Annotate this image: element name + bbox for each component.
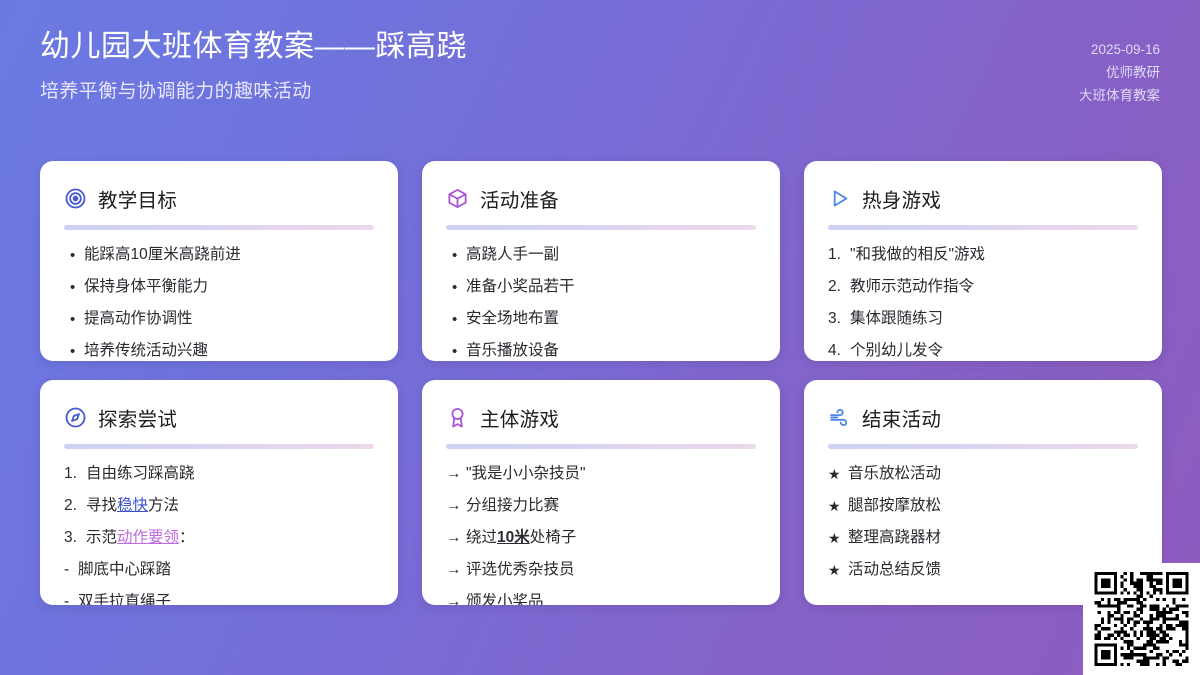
page-subtitle: 培养平衡与协调能力的趣味活动: [40, 76, 1160, 103]
card-warmup-game: 热身游戏1."和我做的相反"游戏2.教师示范动作指令3.集体跟随练习4.个别幼儿…: [804, 161, 1162, 361]
card-list: →"我是小小杂技员"→分组接力比赛→绕过10米处椅子→评选优秀杂技员→颁发小奖品: [446, 464, 756, 605]
wind-icon: [828, 406, 851, 429]
list-item-text: 示范动作要领：: [86, 528, 374, 549]
list-marker: →: [446, 464, 466, 485]
list-item: 3.示范动作要领：: [64, 528, 374, 549]
list-marker: -: [64, 560, 78, 581]
list-marker: →: [446, 528, 466, 549]
card-teaching-goals: 教学目标•能踩高10厘米高跷前进•保持身体平衡能力•提高动作协调性•培养传统活动…: [40, 161, 398, 361]
card-list: •高跷人手一副•准备小奖品若干•安全场地布置•音乐播放设备: [446, 245, 756, 361]
list-item-text: 保持身体平衡能力: [84, 277, 374, 298]
card-header: 探索尝试: [64, 402, 374, 432]
list-item: 1."和我做的相反"游戏: [828, 245, 1138, 266]
list-item-text: "我是小小杂技员": [466, 464, 756, 485]
card-main-game: 主体游戏→"我是小小杂技员"→分组接力比赛→绕过10米处椅子→评选优秀杂技员→颁…: [422, 380, 780, 605]
card-list: 1."和我做的相反"游戏2.教师示范动作指令3.集体跟随练习4.个别幼儿发令: [828, 245, 1138, 361]
list-item: 4.个别幼儿发令: [828, 341, 1138, 361]
list-marker: •: [64, 277, 84, 298]
list-marker: →: [446, 592, 466, 605]
list-marker: →: [446, 496, 466, 517]
list-marker: •: [446, 277, 466, 298]
card-header: 热身游戏: [828, 183, 1138, 213]
list-item-text: 脚底中心踩踏: [78, 560, 374, 581]
target-icon: [64, 187, 87, 210]
list-marker: ★: [828, 528, 848, 549]
list-item-text: 寻找稳快方法: [86, 496, 374, 517]
card-activity-preparation: 活动准备•高跷人手一副•准备小奖品若干•安全场地布置•音乐播放设备: [422, 161, 780, 361]
card-divider: [446, 225, 756, 230]
list-item-text: 音乐播放设备: [466, 341, 756, 361]
list-item-text: 安全场地布置: [466, 309, 756, 330]
list-item: →颁发小奖品: [446, 592, 756, 605]
list-item: 3.集体跟随练习: [828, 309, 1138, 330]
list-marker: →: [446, 560, 466, 581]
card-list: 1.自由练习踩高跷2.寻找稳快方法3.示范动作要领：-脚底中心踩踏-双手拉直绳子: [64, 464, 374, 605]
card-exploration-attempt: 探索尝试1.自由练习踩高跷2.寻找稳快方法3.示范动作要领：-脚底中心踩踏-双手…: [40, 380, 398, 605]
card-divider: [64, 225, 374, 230]
card-title: 热身游戏: [862, 184, 941, 213]
list-item-text: 音乐放松活动: [848, 464, 1138, 485]
qr-code-icon: [1092, 572, 1191, 666]
list-item: →"我是小小杂技员": [446, 464, 756, 485]
list-item-text: 绕过10米处椅子: [466, 528, 756, 549]
list-item-text: 个别幼儿发令: [850, 341, 1138, 361]
list-marker: •: [64, 341, 84, 361]
card-grid: 教学目标•能踩高10厘米高跷前进•保持身体平衡能力•提高动作协调性•培养传统活动…: [40, 161, 1160, 605]
list-item-text: 准备小奖品若干: [466, 277, 756, 298]
list-item: ★音乐放松活动: [828, 464, 1138, 485]
list-marker: -: [64, 592, 78, 605]
list-marker: 1.: [64, 464, 86, 485]
card-list: •能踩高10厘米高跷前进•保持身体平衡能力•提高动作协调性•培养传统活动兴趣: [64, 245, 374, 361]
list-marker: 4.: [828, 341, 850, 361]
list-item: •安全场地布置: [446, 309, 756, 330]
list-item-text: 培养传统活动兴趣: [84, 341, 374, 361]
list-item: •高跷人手一副: [446, 245, 756, 266]
list-item: -双手拉直绳子: [64, 592, 374, 605]
card-divider: [828, 225, 1138, 230]
list-marker: 2.: [828, 277, 850, 298]
list-item: •培养传统活动兴趣: [64, 341, 374, 361]
list-marker: •: [446, 245, 466, 266]
list-item: •能踩高10厘米高跷前进: [64, 245, 374, 266]
list-item-text: 评选优秀杂技员: [466, 560, 756, 581]
list-item: →评选优秀杂技员: [446, 560, 756, 581]
list-item-text: 能踩高10厘米高跷前进: [84, 245, 374, 266]
list-item: •提高动作协调性: [64, 309, 374, 330]
list-item: -脚底中心踩踏: [64, 560, 374, 581]
list-item: •音乐播放设备: [446, 341, 756, 361]
list-item-text: 集体跟随练习: [850, 309, 1138, 330]
list-item-text: 腿部按摩放松: [848, 496, 1138, 517]
play-triangle-icon: [828, 187, 851, 210]
inline-link[interactable]: 稳快: [117, 497, 148, 514]
list-item-text: 高跷人手一副: [466, 245, 756, 266]
list-marker: •: [64, 245, 84, 266]
list-marker: ★: [828, 496, 848, 517]
card-title: 探索尝试: [98, 403, 177, 432]
list-item: •保持身体平衡能力: [64, 277, 374, 298]
list-marker: ★: [828, 560, 848, 581]
box-icon: [446, 187, 469, 210]
card-title: 主体游戏: [480, 403, 559, 432]
award-icon: [446, 406, 469, 429]
list-item-text: "和我做的相反"游戏: [850, 245, 1138, 266]
list-item-text: 自由练习踩高跷: [86, 464, 374, 485]
list-item-text: 教师示范动作指令: [850, 277, 1138, 298]
list-item: →绕过10米处椅子: [446, 528, 756, 549]
list-marker: ★: [828, 464, 848, 485]
header-meta: 2025-09-16 优师教研 大班体育教案: [1079, 38, 1160, 108]
list-marker: 3.: [64, 528, 86, 549]
card-header: 活动准备: [446, 183, 756, 213]
card-header: 结束活动: [828, 402, 1138, 432]
list-item: 2.寻找稳快方法: [64, 496, 374, 517]
qr-panel: [1083, 563, 1200, 675]
list-item: ★整理高跷器材: [828, 528, 1138, 549]
card-divider: [446, 444, 756, 449]
list-marker: •: [446, 309, 466, 330]
meta-category: 大班体育教案: [1079, 84, 1160, 107]
list-item-text: 双手拉直绳子: [78, 592, 374, 605]
card-divider: [828, 444, 1138, 449]
list-item-text: 提高动作协调性: [84, 309, 374, 330]
list-marker: 2.: [64, 496, 86, 517]
list-item: →分组接力比赛: [446, 496, 756, 517]
list-item: •准备小奖品若干: [446, 277, 756, 298]
list-marker: 3.: [828, 309, 850, 330]
page-header: 幼儿园大班体育教案——踩高跷 培养平衡与协调能力的趣味活动 2025-09-16…: [0, 0, 1200, 140]
list-item-text: 整理高跷器材: [848, 528, 1138, 549]
card-title: 教学目标: [98, 184, 177, 213]
card-title: 结束活动: [862, 403, 941, 432]
list-item-text: 分组接力比赛: [466, 496, 756, 517]
list-item: 2.教师示范动作指令: [828, 277, 1138, 298]
emphasis-text: 10米: [497, 529, 530, 546]
card-title: 活动准备: [480, 184, 559, 213]
list-item: 1.自由练习踩高跷: [64, 464, 374, 485]
card-header: 主体游戏: [446, 402, 756, 432]
compass-icon: [64, 406, 87, 429]
meta-date: 2025-09-16: [1079, 38, 1160, 61]
card-divider: [64, 444, 374, 449]
meta-source: 优师教研: [1079, 61, 1160, 84]
inline-link[interactable]: 动作要领: [117, 529, 179, 546]
page-title: 幼儿园大班体育教案——踩高跷: [40, 28, 1160, 66]
list-item-text: 颁发小奖品: [466, 592, 756, 605]
list-marker: 1.: [828, 245, 850, 266]
card-header: 教学目标: [64, 183, 374, 213]
list-marker: •: [64, 309, 84, 330]
list-marker: •: [446, 341, 466, 361]
list-item: ★腿部按摩放松: [828, 496, 1138, 517]
